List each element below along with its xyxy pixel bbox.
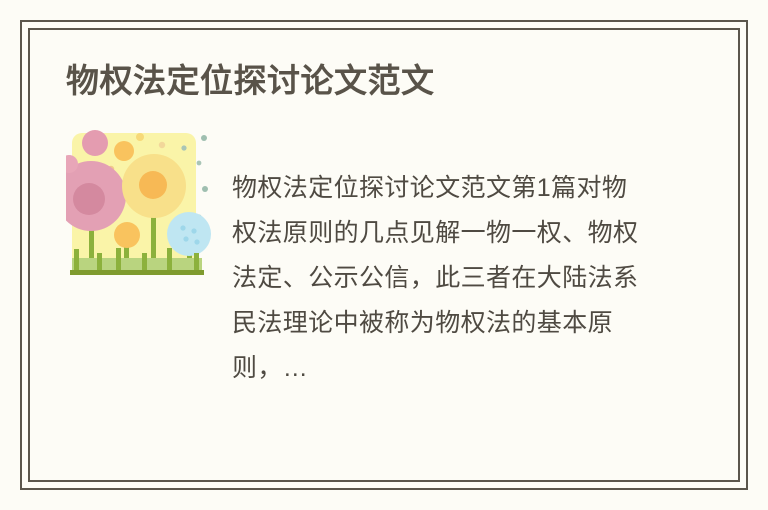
article-body: 物权法定位探讨论文范文第1篇对物权法原则的几点见解一物一权、物权法定、公示公信，… [66,127,702,416]
page-outer-border: 物权法定位探讨论文范文 [20,20,748,490]
page-title: 物权法定位探讨论文范文 [66,60,702,101]
article-card: 物权法定位探讨论文范文 [30,30,738,480]
flower-field-illustration[interactable] [66,127,214,281]
flower-field-icon [66,127,214,281]
page-inner-border: 物权法定位探讨论文范文 [28,28,740,482]
article-excerpt: 物权法定位探讨论文范文第1篇对物权法原则的几点见解一物一权、物权法定、公示公信，… [232,152,652,391]
